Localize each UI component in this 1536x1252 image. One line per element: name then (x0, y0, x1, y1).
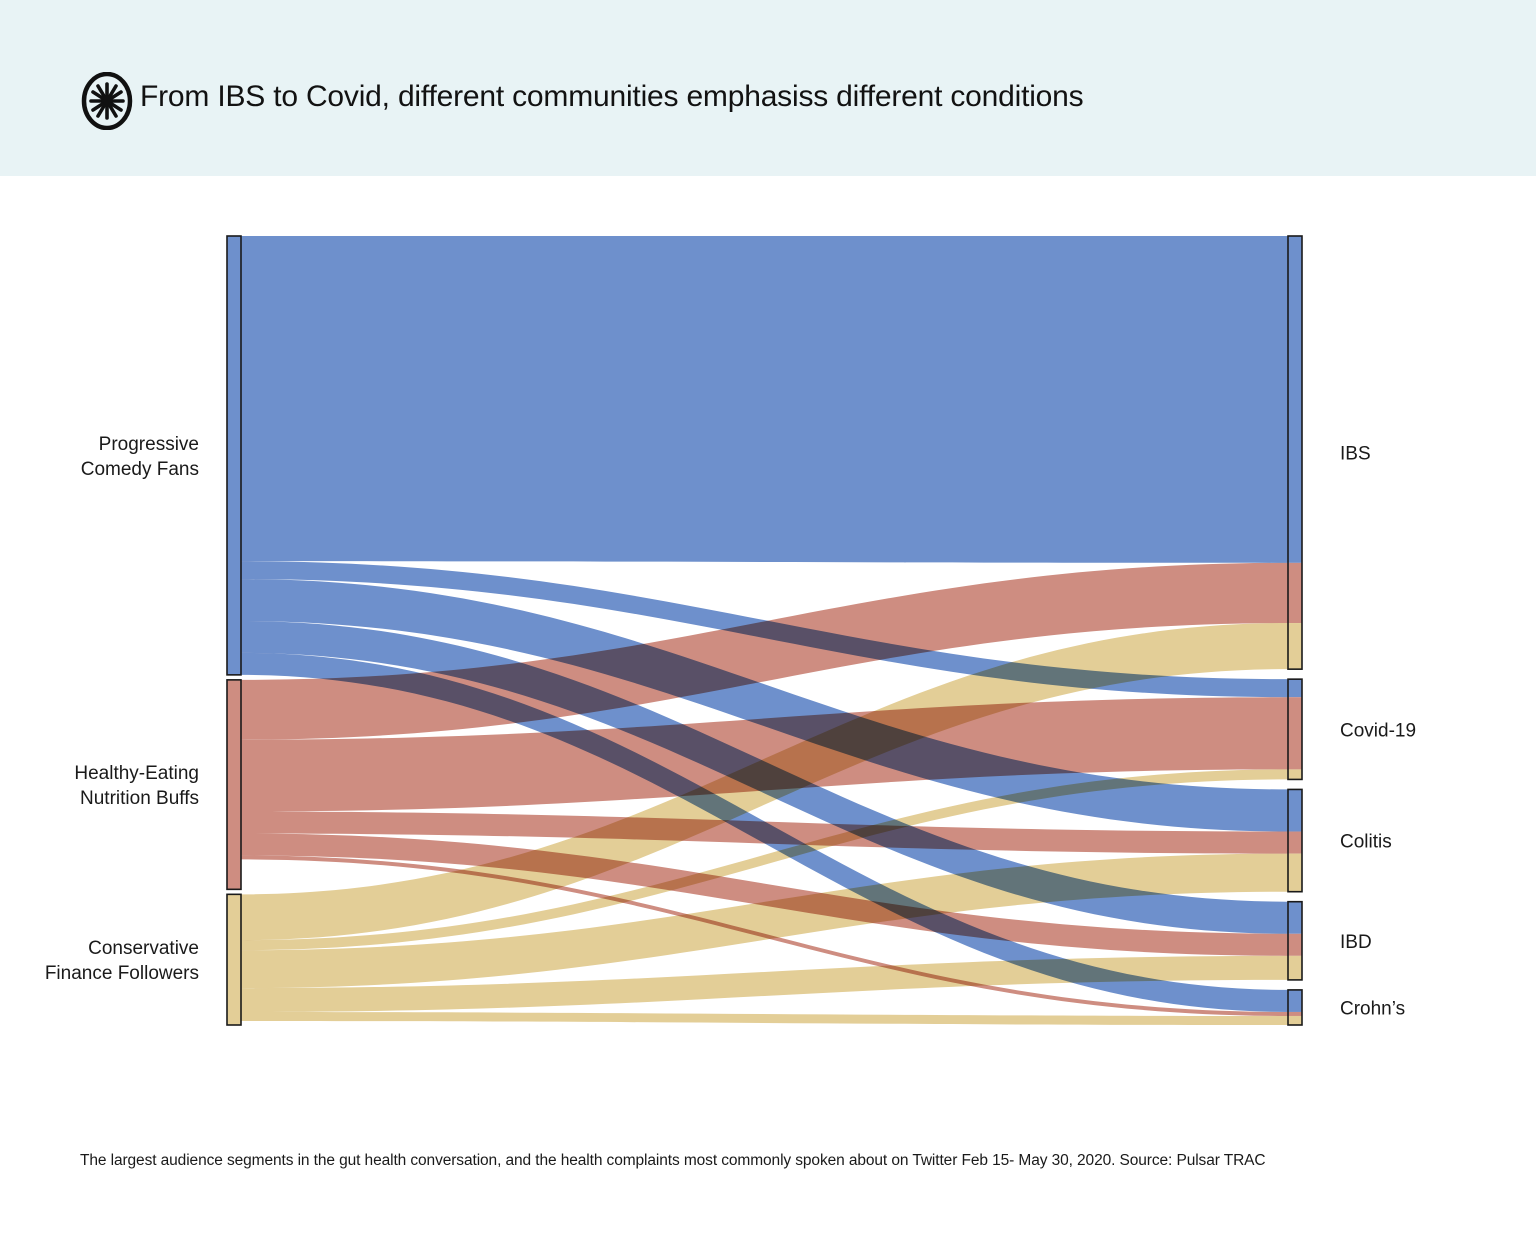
sankey-link-cff-to-crohns[interactable] (241, 1012, 1288, 1025)
sankey-chart: ProgressiveComedy FansHealthy-EatingNutr… (0, 176, 1536, 1136)
sankey-node-segment-covid-henb (1288, 697, 1302, 769)
sankey-node-segment-crohns-henb (1288, 1012, 1302, 1016)
sankey-node-segment-crohns-pcf (1288, 990, 1302, 1012)
sankey-source-label-henb: Healthy-EatingNutrition Buffs (74, 763, 199, 809)
page-title: From IBS to Covid, different communities… (140, 80, 1083, 114)
sankey-node-segment-covid-cff (1288, 769, 1302, 779)
sankey-node-cff[interactable] (227, 894, 241, 1025)
sankey-source-label-pcf: ProgressiveComedy Fans (81, 434, 199, 480)
sankey-node-segment-colitis-henb (1288, 832, 1302, 854)
sankey-node-segment-ibs-henb (1288, 563, 1302, 623)
chart-caption: The largest audience segments in the gut… (80, 1152, 1460, 1170)
sankey-target-label-crohns: Crohn’s (1340, 998, 1405, 1019)
sankey-node-segment-ibd-pcf (1288, 902, 1302, 934)
sankey-node-segment-ibd-henb (1288, 934, 1302, 956)
sankey-node-segment-crohns-cff (1288, 1016, 1302, 1025)
sankey-node-pcf[interactable] (227, 236, 241, 675)
sankey-node-segment-ibs-cff (1288, 623, 1302, 669)
sankey-link-pcf-to-ibs[interactable] (241, 236, 1288, 563)
sankey-node-segment-ibd-cff (1288, 956, 1302, 980)
sankey-node-segment-ibs-pcf (1288, 236, 1302, 563)
sankey-node-segment-colitis-pcf (1288, 789, 1302, 831)
sankey-target-label-covid: Covid-19 (1340, 720, 1416, 741)
sankey-target-label-ibs: IBS (1340, 444, 1371, 465)
sankey-source-label-cff: ConservativeFinance Followers (45, 938, 199, 984)
sankey-node-segment-covid-pcf (1288, 679, 1302, 697)
sankey-links-layer (241, 236, 1288, 1025)
sankey-target-label-ibd: IBD (1340, 932, 1372, 953)
asterisk-oval-icon (78, 72, 136, 130)
sankey-node-henb[interactable] (227, 680, 241, 889)
sankey-node-segment-colitis-cff (1288, 854, 1302, 892)
sankey-target-label-colitis: Colitis (1340, 832, 1392, 853)
